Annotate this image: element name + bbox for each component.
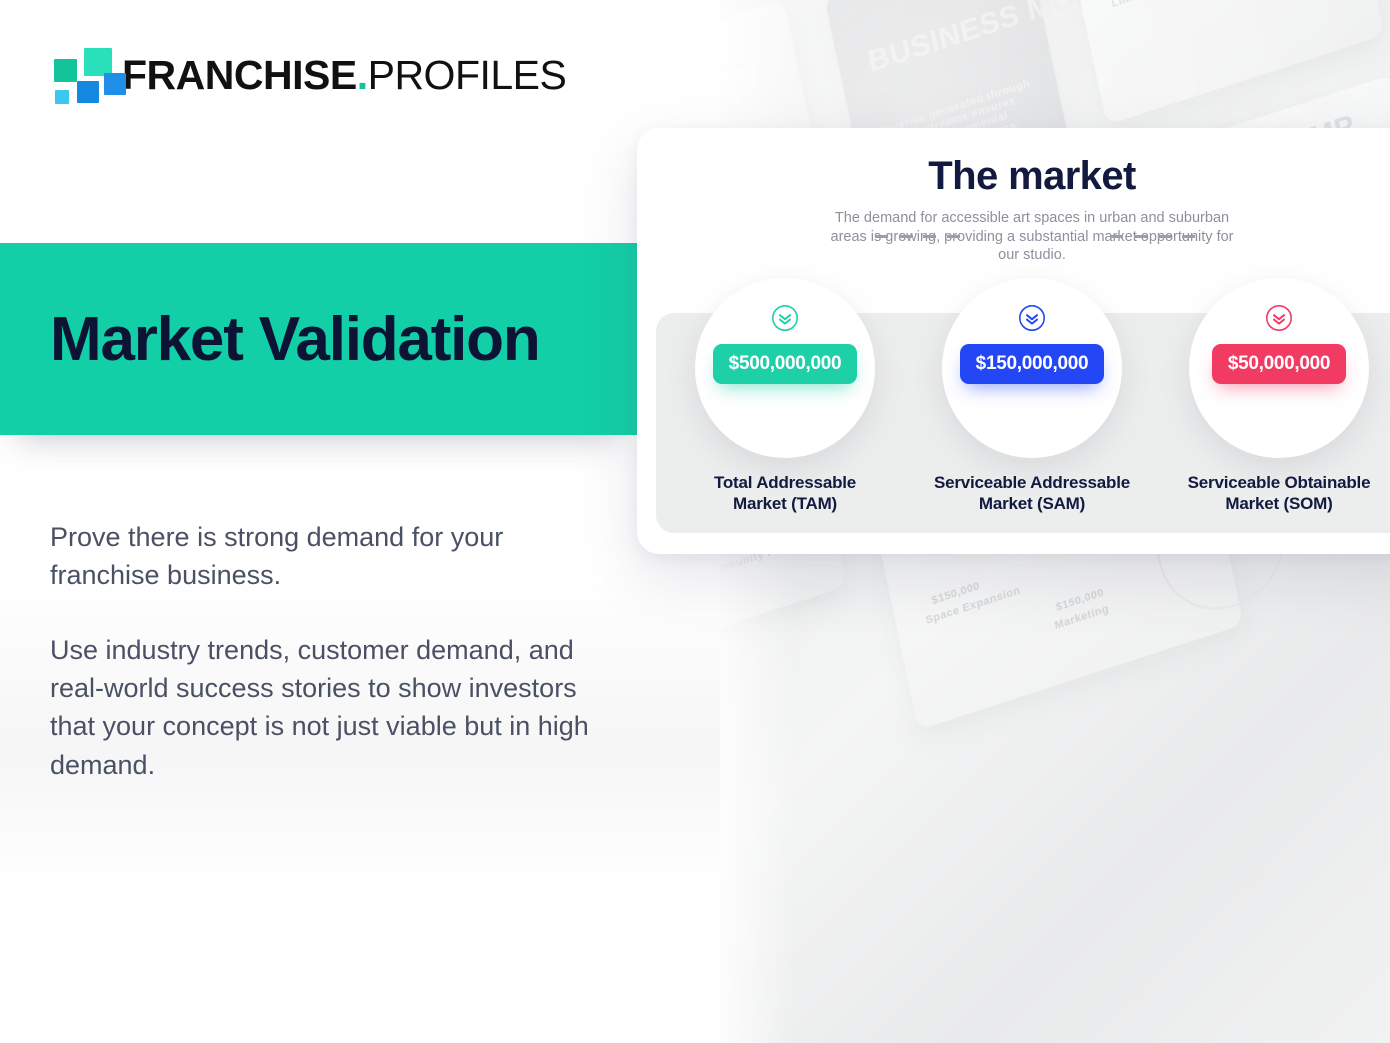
double-chevron-down-icon[interactable] <box>771 304 799 332</box>
dashed-connector-sam-som <box>1110 235 1202 238</box>
brand-name-bold: FRANCHISE <box>122 52 357 98</box>
market-value-badge: $500,000,000 <box>713 344 858 384</box>
brand-name-light: PROFILES <box>368 52 567 98</box>
brand-name-dot: . <box>357 52 368 98</box>
double-chevron-down-icon[interactable] <box>1018 304 1046 332</box>
market-card: The market The demand for accessible art… <box>637 128 1390 554</box>
body-paragraph-1: Prove there is strong demand for your fr… <box>50 518 598 595</box>
market-item-label: Serviceable Obtainable Market (SOM) <box>1179 472 1379 514</box>
market-columns: $500,000,000 Total Addressable Market (T… <box>656 278 1390 548</box>
title-banner: Market Validation <box>0 243 637 435</box>
market-item-sam[interactable]: $150,000,000 Serviceable Addressable Mar… <box>917 278 1147 514</box>
brand-wordmark: FRANCHISE.PROFILES <box>122 55 566 96</box>
dashed-connector-tam-sam <box>875 235 967 238</box>
body-paragraph-2: Use industry trends, customer demand, an… <box>50 631 598 784</box>
body-copy: Prove there is strong demand for your fr… <box>50 518 598 784</box>
double-chevron-down-icon[interactable] <box>1265 304 1293 332</box>
slide-canvas: Drop-In Fees Session Workshops Commissio… <box>0 0 1390 1043</box>
market-item-label: Serviceable Addressable Market (SAM) <box>932 472 1132 514</box>
market-item-tam[interactable]: $500,000,000 Total Addressable Market (T… <box>670 278 900 514</box>
page-title: Market Validation <box>50 304 540 375</box>
market-value-badge: $50,000,000 <box>1212 344 1346 384</box>
four-squares-logo-icon <box>48 46 108 104</box>
market-bubble: $150,000,000 <box>942 278 1122 458</box>
market-value-badge: $150,000,000 <box>960 344 1105 384</box>
market-item-label: Total Addressable Market (TAM) <box>685 472 885 514</box>
market-bubble: $50,000,000 <box>1189 278 1369 458</box>
market-bubble: $500,000,000 <box>695 278 875 458</box>
brand-logo: FRANCHISE.PROFILES <box>48 44 566 106</box>
market-item-som[interactable]: $50,000,000 Serviceable Obtainable Marke… <box>1164 278 1390 514</box>
left-content-pane: FRANCHISE.PROFILES Market Validation Pro… <box>0 0 720 1043</box>
market-card-title: The market <box>637 154 1390 199</box>
